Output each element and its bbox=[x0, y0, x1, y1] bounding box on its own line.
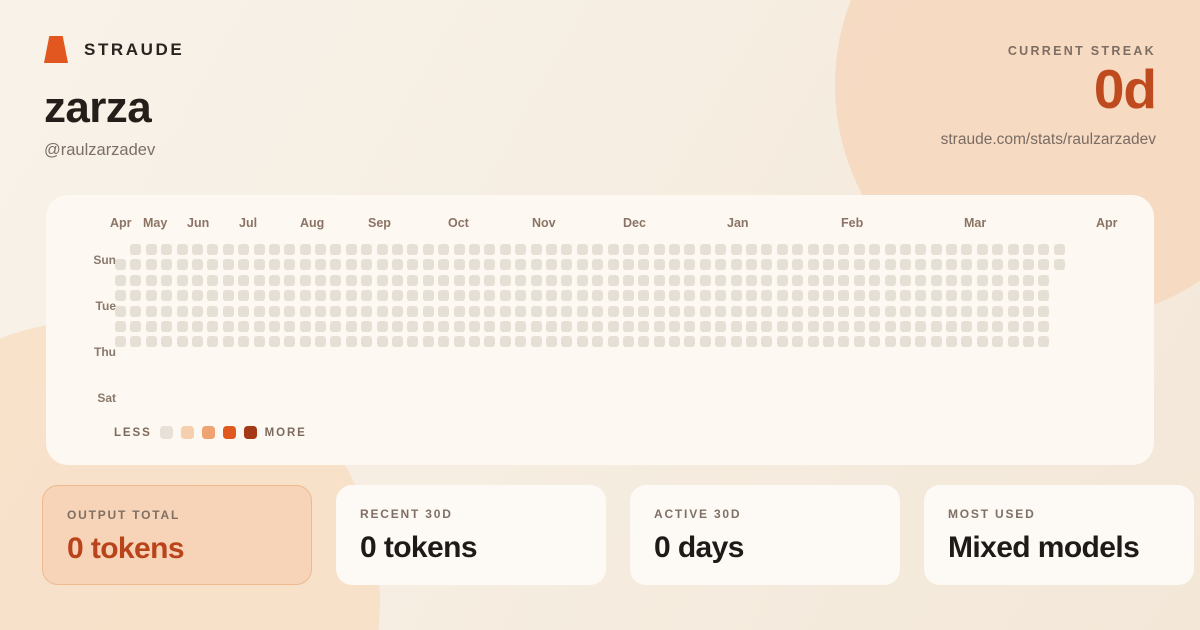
contribution-cell[interactable] bbox=[777, 290, 788, 301]
contribution-cell[interactable] bbox=[669, 321, 680, 332]
contribution-cell[interactable] bbox=[746, 321, 757, 332]
contribution-cell[interactable] bbox=[300, 336, 311, 347]
contribution-cell[interactable] bbox=[669, 244, 680, 255]
contribution-cell[interactable] bbox=[808, 244, 819, 255]
contribution-cell[interactable] bbox=[254, 259, 265, 270]
contribution-cell[interactable] bbox=[454, 336, 465, 347]
contribution-cell[interactable] bbox=[808, 306, 819, 317]
contribution-cell[interactable] bbox=[900, 336, 911, 347]
contribution-cell[interactable] bbox=[1038, 259, 1049, 270]
contribution-cell[interactable] bbox=[192, 275, 203, 286]
contribution-cell[interactable] bbox=[361, 290, 372, 301]
contribution-cell[interactable] bbox=[638, 244, 649, 255]
contribution-cell[interactable] bbox=[715, 244, 726, 255]
contribution-cell[interactable] bbox=[838, 259, 849, 270]
contribution-cell[interactable] bbox=[407, 275, 418, 286]
contribution-cell[interactable] bbox=[931, 275, 942, 286]
contribution-cell[interactable] bbox=[946, 321, 957, 332]
contribution-cell[interactable] bbox=[238, 259, 249, 270]
contribution-cell[interactable] bbox=[592, 244, 603, 255]
contribution-cell[interactable] bbox=[284, 321, 295, 332]
contribution-cell[interactable] bbox=[177, 306, 188, 317]
contribution-cell[interactable] bbox=[438, 290, 449, 301]
contribution-cell[interactable] bbox=[254, 244, 265, 255]
contribution-cell[interactable] bbox=[377, 321, 388, 332]
contribution-cell[interactable] bbox=[1008, 244, 1019, 255]
contribution-cell[interactable] bbox=[346, 275, 357, 286]
contribution-cell[interactable] bbox=[854, 244, 865, 255]
contribution-cell[interactable] bbox=[315, 290, 326, 301]
contribution-cell[interactable] bbox=[146, 275, 157, 286]
contribution-cell[interactable] bbox=[592, 336, 603, 347]
contribution-cell[interactable] bbox=[454, 244, 465, 255]
contribution-cell[interactable] bbox=[1008, 306, 1019, 317]
contribution-cell[interactable] bbox=[731, 290, 742, 301]
contribution-cell[interactable] bbox=[284, 275, 295, 286]
contribution-cell[interactable] bbox=[300, 306, 311, 317]
contribution-cell[interactable] bbox=[761, 275, 772, 286]
contribution-cell[interactable] bbox=[161, 321, 172, 332]
contribution-cell[interactable] bbox=[438, 259, 449, 270]
contribution-cell[interactable] bbox=[915, 306, 926, 317]
contribution-cell[interactable] bbox=[638, 290, 649, 301]
contribution-cell[interactable] bbox=[700, 321, 711, 332]
contribution-cell[interactable] bbox=[484, 290, 495, 301]
contribution-cell[interactable] bbox=[146, 336, 157, 347]
contribution-cell[interactable] bbox=[1008, 321, 1019, 332]
contribution-cell[interactable] bbox=[854, 275, 865, 286]
contribution-cell[interactable] bbox=[746, 259, 757, 270]
contribution-cell[interactable] bbox=[684, 306, 695, 317]
contribution-cell[interactable] bbox=[885, 244, 896, 255]
contribution-cell[interactable] bbox=[808, 275, 819, 286]
contribution-cell[interactable] bbox=[961, 290, 972, 301]
contribution-cell[interactable] bbox=[484, 306, 495, 317]
contribution-cell[interactable] bbox=[438, 306, 449, 317]
contribution-cell[interactable] bbox=[423, 290, 434, 301]
contribution-cell[interactable] bbox=[854, 290, 865, 301]
contribution-cell[interactable] bbox=[1008, 290, 1019, 301]
contribution-cell[interactable] bbox=[223, 306, 234, 317]
contribution-cell[interactable] bbox=[854, 321, 865, 332]
contribution-cell[interactable] bbox=[484, 244, 495, 255]
contribution-cell[interactable] bbox=[915, 321, 926, 332]
contribution-cell[interactable] bbox=[731, 259, 742, 270]
contribution-cell[interactable] bbox=[608, 336, 619, 347]
contribution-cell[interactable] bbox=[561, 275, 572, 286]
contribution-cell[interactable] bbox=[330, 336, 341, 347]
contribution-cell[interactable] bbox=[684, 290, 695, 301]
contribution-cell[interactable] bbox=[177, 321, 188, 332]
contribution-cell[interactable] bbox=[315, 336, 326, 347]
contribution-cell[interactable] bbox=[284, 336, 295, 347]
contribution-cell[interactable] bbox=[346, 259, 357, 270]
contribution-cell[interactable] bbox=[361, 321, 372, 332]
contribution-cell[interactable] bbox=[223, 244, 234, 255]
contribution-cell[interactable] bbox=[1023, 306, 1034, 317]
contribution-cell[interactable] bbox=[885, 336, 896, 347]
contribution-cell[interactable] bbox=[300, 275, 311, 286]
contribution-cell[interactable] bbox=[407, 244, 418, 255]
contribution-cell[interactable] bbox=[346, 321, 357, 332]
contribution-cell[interactable] bbox=[561, 259, 572, 270]
contribution-cell[interactable] bbox=[269, 275, 280, 286]
contribution-cell[interactable] bbox=[300, 321, 311, 332]
contribution-cell[interactable] bbox=[1038, 306, 1049, 317]
contribution-cell[interactable] bbox=[177, 290, 188, 301]
contribution-cell[interactable] bbox=[361, 336, 372, 347]
contribution-cell[interactable] bbox=[808, 259, 819, 270]
contribution-cell[interactable] bbox=[223, 336, 234, 347]
contribution-cell[interactable] bbox=[761, 321, 772, 332]
contribution-cell[interactable] bbox=[500, 290, 511, 301]
contribution-cell[interactable] bbox=[961, 306, 972, 317]
contribution-cell[interactable] bbox=[992, 244, 1003, 255]
contribution-cell[interactable] bbox=[577, 290, 588, 301]
contribution-cell[interactable] bbox=[623, 275, 634, 286]
contribution-cell[interactable] bbox=[346, 336, 357, 347]
contribution-cell[interactable] bbox=[500, 336, 511, 347]
contribution-cell[interactable] bbox=[715, 259, 726, 270]
contribution-cell[interactable] bbox=[177, 244, 188, 255]
contribution-cell[interactable] bbox=[823, 321, 834, 332]
contribution-cell[interactable] bbox=[392, 336, 403, 347]
contribution-cell[interactable] bbox=[561, 290, 572, 301]
contribution-cell[interactable] bbox=[130, 275, 141, 286]
contribution-cell[interactable] bbox=[854, 336, 865, 347]
contribution-cell[interactable] bbox=[608, 244, 619, 255]
contribution-cell[interactable] bbox=[454, 321, 465, 332]
contribution-cell[interactable] bbox=[915, 259, 926, 270]
contribution-cell[interactable] bbox=[623, 259, 634, 270]
contribution-cell[interactable] bbox=[546, 259, 557, 270]
contribution-cell[interactable] bbox=[838, 321, 849, 332]
contribution-cell[interactable] bbox=[330, 306, 341, 317]
contribution-cell[interactable] bbox=[1038, 321, 1049, 332]
contribution-cell[interactable] bbox=[146, 306, 157, 317]
contribution-cell[interactable] bbox=[931, 290, 942, 301]
contribution-cell[interactable] bbox=[423, 336, 434, 347]
contribution-cell[interactable] bbox=[161, 290, 172, 301]
contribution-cell[interactable] bbox=[223, 275, 234, 286]
contribution-cell[interactable] bbox=[977, 275, 988, 286]
contribution-cell[interactable] bbox=[192, 336, 203, 347]
contribution-cell[interactable] bbox=[531, 336, 542, 347]
contribution-cell[interactable] bbox=[454, 259, 465, 270]
contribution-cell[interactable] bbox=[269, 321, 280, 332]
contribution-cell[interactable] bbox=[608, 321, 619, 332]
contribution-cell[interactable] bbox=[115, 275, 126, 286]
contribution-cell[interactable] bbox=[777, 244, 788, 255]
contribution-cell[interactable] bbox=[330, 259, 341, 270]
contribution-cell[interactable] bbox=[531, 321, 542, 332]
contribution-cell[interactable] bbox=[515, 259, 526, 270]
contribution-cell[interactable] bbox=[269, 259, 280, 270]
contribution-cell[interactable] bbox=[546, 275, 557, 286]
contribution-cell[interactable] bbox=[623, 244, 634, 255]
contribution-cell[interactable] bbox=[407, 259, 418, 270]
contribution-cell[interactable] bbox=[130, 290, 141, 301]
contribution-cell[interactable] bbox=[684, 244, 695, 255]
contribution-cell[interactable] bbox=[115, 290, 126, 301]
contribution-cell[interactable] bbox=[623, 290, 634, 301]
contribution-cell[interactable] bbox=[638, 336, 649, 347]
contribution-cell[interactable] bbox=[161, 336, 172, 347]
contribution-cell[interactable] bbox=[561, 321, 572, 332]
contribution-cell[interactable] bbox=[854, 306, 865, 317]
contribution-cell[interactable] bbox=[931, 306, 942, 317]
contribution-cell[interactable] bbox=[238, 290, 249, 301]
contribution-cell[interactable] bbox=[731, 321, 742, 332]
contribution-cell[interactable] bbox=[823, 336, 834, 347]
contribution-cell[interactable] bbox=[115, 336, 126, 347]
contribution-cell[interactable] bbox=[1008, 259, 1019, 270]
contribution-cell[interactable] bbox=[885, 290, 896, 301]
contribution-cell[interactable] bbox=[546, 336, 557, 347]
contribution-cell[interactable] bbox=[500, 321, 511, 332]
contribution-cell[interactable] bbox=[438, 244, 449, 255]
contribution-cell[interactable] bbox=[684, 275, 695, 286]
contribution-cell[interactable] bbox=[561, 336, 572, 347]
contribution-cell[interactable] bbox=[992, 275, 1003, 286]
contribution-cell[interactable] bbox=[654, 336, 665, 347]
contribution-cell[interactable] bbox=[223, 321, 234, 332]
contribution-cell[interactable] bbox=[515, 290, 526, 301]
contribution-cell[interactable] bbox=[608, 306, 619, 317]
contribution-cell[interactable] bbox=[1038, 336, 1049, 347]
contribution-cell[interactable] bbox=[608, 290, 619, 301]
contribution-cell[interactable] bbox=[1023, 275, 1034, 286]
contribution-cell[interactable] bbox=[1023, 321, 1034, 332]
contribution-cell[interactable] bbox=[1038, 244, 1049, 255]
contribution-cell[interactable] bbox=[546, 290, 557, 301]
contribution-cell[interactable] bbox=[700, 275, 711, 286]
contribution-cell[interactable] bbox=[238, 306, 249, 317]
contribution-cell[interactable] bbox=[1038, 275, 1049, 286]
contribution-cell[interactable] bbox=[300, 244, 311, 255]
contribution-cell[interactable] bbox=[700, 306, 711, 317]
contribution-cell[interactable] bbox=[192, 244, 203, 255]
contribution-cell[interactable] bbox=[931, 244, 942, 255]
contribution-cell[interactable] bbox=[315, 306, 326, 317]
contribution-cell[interactable] bbox=[377, 275, 388, 286]
contribution-cell[interactable] bbox=[423, 306, 434, 317]
contribution-cell[interactable] bbox=[423, 275, 434, 286]
contribution-cell[interactable] bbox=[346, 306, 357, 317]
contribution-cell[interactable] bbox=[977, 244, 988, 255]
contribution-cell[interactable] bbox=[777, 259, 788, 270]
contribution-cell[interactable] bbox=[407, 336, 418, 347]
contribution-cell[interactable] bbox=[284, 290, 295, 301]
contribution-cell[interactable] bbox=[777, 336, 788, 347]
contribution-cell[interactable] bbox=[608, 259, 619, 270]
contribution-cell[interactable] bbox=[454, 306, 465, 317]
contribution-cell[interactable] bbox=[269, 336, 280, 347]
contribution-cell[interactable] bbox=[238, 244, 249, 255]
contribution-cell[interactable] bbox=[900, 306, 911, 317]
contribution-cell[interactable] bbox=[761, 259, 772, 270]
contribution-cell[interactable] bbox=[561, 244, 572, 255]
contribution-cell[interactable] bbox=[838, 306, 849, 317]
contribution-cell[interactable] bbox=[207, 321, 218, 332]
contribution-cell[interactable] bbox=[823, 275, 834, 286]
contribution-cell[interactable] bbox=[423, 244, 434, 255]
contribution-cell[interactable] bbox=[931, 259, 942, 270]
contribution-cell[interactable] bbox=[192, 321, 203, 332]
contribution-cell[interactable] bbox=[915, 244, 926, 255]
contribution-cell[interactable] bbox=[346, 244, 357, 255]
contribution-cell[interactable] bbox=[684, 259, 695, 270]
contribution-cell[interactable] bbox=[438, 321, 449, 332]
contribution-cell[interactable] bbox=[330, 244, 341, 255]
contribution-cell[interactable] bbox=[515, 244, 526, 255]
contribution-cell[interactable] bbox=[254, 306, 265, 317]
contribution-cell[interactable] bbox=[700, 336, 711, 347]
contribution-cell[interactable] bbox=[130, 244, 141, 255]
contribution-cell[interactable] bbox=[900, 259, 911, 270]
contribution-cell[interactable] bbox=[315, 244, 326, 255]
contribution-cell[interactable] bbox=[946, 306, 957, 317]
contribution-cell[interactable] bbox=[638, 259, 649, 270]
contribution-cell[interactable] bbox=[130, 336, 141, 347]
contribution-cell[interactable] bbox=[192, 259, 203, 270]
contribution-cell[interactable] bbox=[1008, 275, 1019, 286]
contribution-cell[interactable] bbox=[700, 290, 711, 301]
contribution-cell[interactable] bbox=[592, 275, 603, 286]
contribution-cell[interactable] bbox=[407, 306, 418, 317]
contribution-cell[interactable] bbox=[284, 244, 295, 255]
contribution-cell[interactable] bbox=[715, 321, 726, 332]
contribution-cell[interactable] bbox=[377, 306, 388, 317]
contribution-cell[interactable] bbox=[869, 336, 880, 347]
contribution-cell[interactable] bbox=[992, 306, 1003, 317]
contribution-cell[interactable] bbox=[731, 275, 742, 286]
contribution-cell[interactable] bbox=[484, 336, 495, 347]
contribution-cell[interactable] bbox=[392, 259, 403, 270]
contribution-cell[interactable] bbox=[515, 321, 526, 332]
contribution-cell[interactable] bbox=[792, 321, 803, 332]
contribution-cell[interactable] bbox=[115, 306, 126, 317]
contribution-cell[interactable] bbox=[361, 244, 372, 255]
contribution-cell[interactable] bbox=[592, 306, 603, 317]
contribution-cell[interactable] bbox=[392, 306, 403, 317]
contribution-cell[interactable] bbox=[254, 290, 265, 301]
contribution-cell[interactable] bbox=[531, 275, 542, 286]
contribution-cell[interactable] bbox=[654, 275, 665, 286]
contribution-cell[interactable] bbox=[192, 290, 203, 301]
contribution-cell[interactable] bbox=[146, 290, 157, 301]
contribution-cell[interactable] bbox=[623, 336, 634, 347]
contribution-cell[interactable] bbox=[808, 321, 819, 332]
contribution-cell[interactable] bbox=[731, 336, 742, 347]
contribution-cell[interactable] bbox=[377, 244, 388, 255]
contribution-cell[interactable] bbox=[392, 244, 403, 255]
contribution-cell[interactable] bbox=[161, 259, 172, 270]
contribution-cell[interactable] bbox=[438, 336, 449, 347]
contribution-cell[interactable] bbox=[300, 259, 311, 270]
contribution-cell[interactable] bbox=[130, 306, 141, 317]
contribution-cell[interactable] bbox=[715, 336, 726, 347]
contribution-cell[interactable] bbox=[823, 290, 834, 301]
contribution-cell[interactable] bbox=[361, 306, 372, 317]
contribution-grid[interactable] bbox=[115, 244, 1065, 347]
contribution-cell[interactable] bbox=[407, 321, 418, 332]
contribution-cell[interactable] bbox=[869, 244, 880, 255]
contribution-cell[interactable] bbox=[654, 290, 665, 301]
contribution-cell[interactable] bbox=[792, 290, 803, 301]
contribution-cell[interactable] bbox=[915, 336, 926, 347]
contribution-cell[interactable] bbox=[961, 275, 972, 286]
contribution-cell[interactable] bbox=[638, 306, 649, 317]
contribution-cell[interactable] bbox=[531, 259, 542, 270]
contribution-cell[interactable] bbox=[146, 244, 157, 255]
contribution-cell[interactable] bbox=[946, 336, 957, 347]
contribution-cell[interactable] bbox=[515, 275, 526, 286]
contribution-cell[interactable] bbox=[869, 275, 880, 286]
contribution-cell[interactable] bbox=[577, 244, 588, 255]
contribution-cell[interactable] bbox=[992, 321, 1003, 332]
contribution-cell[interactable] bbox=[515, 306, 526, 317]
contribution-cell[interactable] bbox=[977, 321, 988, 332]
contribution-cell[interactable] bbox=[838, 290, 849, 301]
contribution-cell[interactable] bbox=[746, 306, 757, 317]
contribution-cell[interactable] bbox=[500, 244, 511, 255]
contribution-cell[interactable] bbox=[238, 336, 249, 347]
contribution-cell[interactable] bbox=[654, 244, 665, 255]
contribution-cell[interactable] bbox=[854, 259, 865, 270]
contribution-cell[interactable] bbox=[300, 290, 311, 301]
contribution-cell[interactable] bbox=[869, 306, 880, 317]
contribution-cell[interactable] bbox=[531, 290, 542, 301]
contribution-cell[interactable] bbox=[592, 321, 603, 332]
contribution-cell[interactable] bbox=[900, 244, 911, 255]
contribution-cell[interactable] bbox=[915, 290, 926, 301]
contribution-cell[interactable] bbox=[1023, 244, 1034, 255]
contribution-cell[interactable] bbox=[146, 321, 157, 332]
contribution-cell[interactable] bbox=[900, 321, 911, 332]
contribution-cell[interactable] bbox=[961, 321, 972, 332]
contribution-cell[interactable] bbox=[792, 259, 803, 270]
contribution-cell[interactable] bbox=[392, 275, 403, 286]
contribution-cell[interactable] bbox=[377, 259, 388, 270]
contribution-cell[interactable] bbox=[838, 244, 849, 255]
contribution-cell[interactable] bbox=[192, 306, 203, 317]
contribution-cell[interactable] bbox=[746, 275, 757, 286]
contribution-cell[interactable] bbox=[377, 336, 388, 347]
contribution-cell[interactable] bbox=[469, 306, 480, 317]
contribution-cell[interactable] bbox=[654, 259, 665, 270]
contribution-cell[interactable] bbox=[900, 275, 911, 286]
contribution-cell[interactable] bbox=[1023, 290, 1034, 301]
contribution-cell[interactable] bbox=[531, 244, 542, 255]
contribution-cell[interactable] bbox=[361, 275, 372, 286]
contribution-cell[interactable] bbox=[977, 306, 988, 317]
contribution-cell[interactable] bbox=[330, 290, 341, 301]
contribution-cell[interactable] bbox=[1054, 259, 1065, 270]
contribution-cell[interactable] bbox=[977, 336, 988, 347]
contribution-cell[interactable] bbox=[654, 306, 665, 317]
contribution-cell[interactable] bbox=[823, 244, 834, 255]
contribution-cell[interactable] bbox=[207, 259, 218, 270]
contribution-cell[interactable] bbox=[454, 290, 465, 301]
contribution-cell[interactable] bbox=[346, 290, 357, 301]
contribution-cell[interactable] bbox=[761, 290, 772, 301]
contribution-cell[interactable] bbox=[546, 306, 557, 317]
contribution-cell[interactable] bbox=[592, 290, 603, 301]
contribution-cell[interactable] bbox=[961, 244, 972, 255]
contribution-cell[interactable] bbox=[254, 336, 265, 347]
contribution-cell[interactable] bbox=[284, 306, 295, 317]
